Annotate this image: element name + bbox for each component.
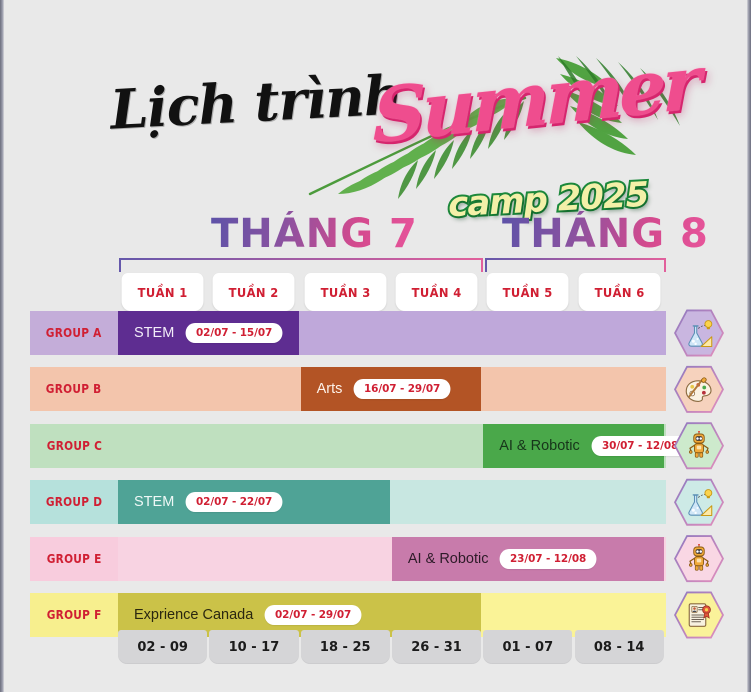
week-header-row: TUẦN 1TUẦN 2TUẦN 3TUẦN 4TUẦN 5TUẦN 6 bbox=[118, 273, 666, 311]
week-dates-cell-2: 10 - 17 bbox=[209, 630, 298, 664]
title-summer: Summer bbox=[373, 40, 697, 161]
robot-icon bbox=[684, 544, 714, 574]
week-dates-cell-3: 18 - 25 bbox=[301, 630, 390, 664]
group-timeline-track: STEM02/07 - 22/07 bbox=[118, 480, 666, 524]
certificate-icon bbox=[684, 600, 714, 630]
activity-name: AI & Robotic bbox=[499, 438, 580, 454]
science-lab-icon bbox=[683, 487, 715, 517]
activity-date-pill: 02/07 - 29/07 bbox=[265, 605, 362, 625]
activity-name: AI & Robotic bbox=[408, 551, 489, 567]
group-row: GROUP ASTEM02/07 - 15/07 bbox=[30, 311, 694, 355]
science-lab-icon bbox=[683, 318, 715, 348]
group-row: GROUP CAI & Robotic30/07 - 12/08 bbox=[30, 424, 694, 468]
group-label-text: GROUP F bbox=[47, 608, 102, 622]
group-row: GROUP BArts16/07 - 29/07 bbox=[30, 367, 694, 411]
robot-icon bbox=[684, 431, 714, 461]
group-timeline-track: AI & Robotic30/07 - 12/08 bbox=[118, 424, 666, 468]
activity-segment[interactable]: Arts16/07 - 29/07 bbox=[301, 367, 482, 411]
group-label-c: GROUP C bbox=[30, 424, 118, 468]
group-icon-badge bbox=[674, 364, 724, 414]
week-dates-cell-5: 01 - 07 bbox=[483, 630, 572, 664]
title-banner: Lịch trình Summer camp 2025 bbox=[0, 52, 751, 182]
group-row: GROUP EAI & Robotic23/07 - 12/08 bbox=[30, 537, 694, 581]
activity-date-pill: 02/07 - 22/07 bbox=[186, 492, 283, 512]
activity-segment[interactable]: AI & Robotic23/07 - 12/08 bbox=[392, 537, 664, 581]
group-timeline-track: AI & Robotic23/07 - 12/08 bbox=[118, 537, 666, 581]
group-icon-badge bbox=[674, 308, 724, 358]
week-dates-cell-6: 08 - 14 bbox=[575, 630, 664, 664]
week-dates-cell-4: 26 - 31 bbox=[392, 630, 481, 664]
group-label-a: GROUP A bbox=[30, 311, 118, 355]
schedule-infographic: Lịch trình Summer camp 2025 THÁNG 7 THÁN… bbox=[0, 0, 751, 692]
group-timeline-track: STEM02/07 - 15/07 bbox=[118, 311, 666, 355]
group-label-text: GROUP E bbox=[47, 552, 102, 566]
activity-date-pill: 16/07 - 29/07 bbox=[354, 379, 451, 399]
group-label-text: GROUP B bbox=[46, 382, 102, 396]
week-dates-cell-1: 02 - 09 bbox=[118, 630, 207, 664]
group-timeline-track: Arts16/07 - 29/07 bbox=[118, 367, 666, 411]
group-icon-badge bbox=[674, 477, 724, 527]
title-lich-trinh: Lịch trình bbox=[109, 62, 404, 141]
week-header-cell-1[interactable]: TUẦN 1 bbox=[122, 273, 204, 311]
group-label-text: GROUP A bbox=[46, 326, 102, 340]
week-dates-row: 02 - 0910 - 1718 - 2526 - 3101 - 0708 - … bbox=[118, 630, 666, 664]
activity-name: Exprience Canada bbox=[134, 607, 253, 623]
activity-segment[interactable]: STEM02/07 - 22/07 bbox=[118, 480, 390, 524]
activity-date-pill: 02/07 - 15/07 bbox=[186, 323, 283, 343]
group-icon-badge bbox=[674, 590, 724, 640]
group-label-e: GROUP E bbox=[30, 537, 118, 581]
group-label-b: GROUP B bbox=[30, 367, 118, 411]
art-palette-icon bbox=[683, 374, 715, 404]
week-header-cell-6[interactable]: TUẦN 6 bbox=[578, 273, 660, 311]
activity-name: STEM bbox=[134, 325, 174, 341]
activity-name: STEM bbox=[134, 494, 174, 510]
group-label-text: GROUP C bbox=[46, 439, 101, 453]
month-bracket-thang-8 bbox=[485, 258, 666, 272]
week-header-cell-4[interactable]: TUẦN 4 bbox=[395, 273, 477, 311]
group-label-d: GROUP D bbox=[30, 480, 118, 524]
month-heading-thang-8: THÁNG 8 bbox=[502, 211, 709, 257]
group-row: GROUP DSTEM02/07 - 22/07 bbox=[30, 480, 694, 524]
activity-name: Arts bbox=[317, 381, 343, 397]
group-icon-badge bbox=[674, 421, 724, 471]
week-header-cell-2[interactable]: TUẦN 2 bbox=[213, 273, 295, 311]
group-label-f: GROUP F bbox=[30, 593, 118, 637]
activity-date-pill: 23/07 - 12/08 bbox=[500, 549, 597, 569]
month-bracket-thang-7 bbox=[119, 258, 483, 272]
week-header-cell-5[interactable]: TUẦN 5 bbox=[487, 273, 569, 311]
group-label-text: GROUP D bbox=[46, 495, 102, 509]
group-icon-badge bbox=[674, 534, 724, 584]
week-header-cell-3[interactable]: TUẦN 3 bbox=[304, 273, 386, 311]
activity-segment[interactable]: STEM02/07 - 15/07 bbox=[118, 311, 299, 355]
activity-segment[interactable]: AI & Robotic30/07 - 12/08 bbox=[483, 424, 664, 468]
month-heading-thang-7: THÁNG 7 bbox=[211, 211, 418, 257]
